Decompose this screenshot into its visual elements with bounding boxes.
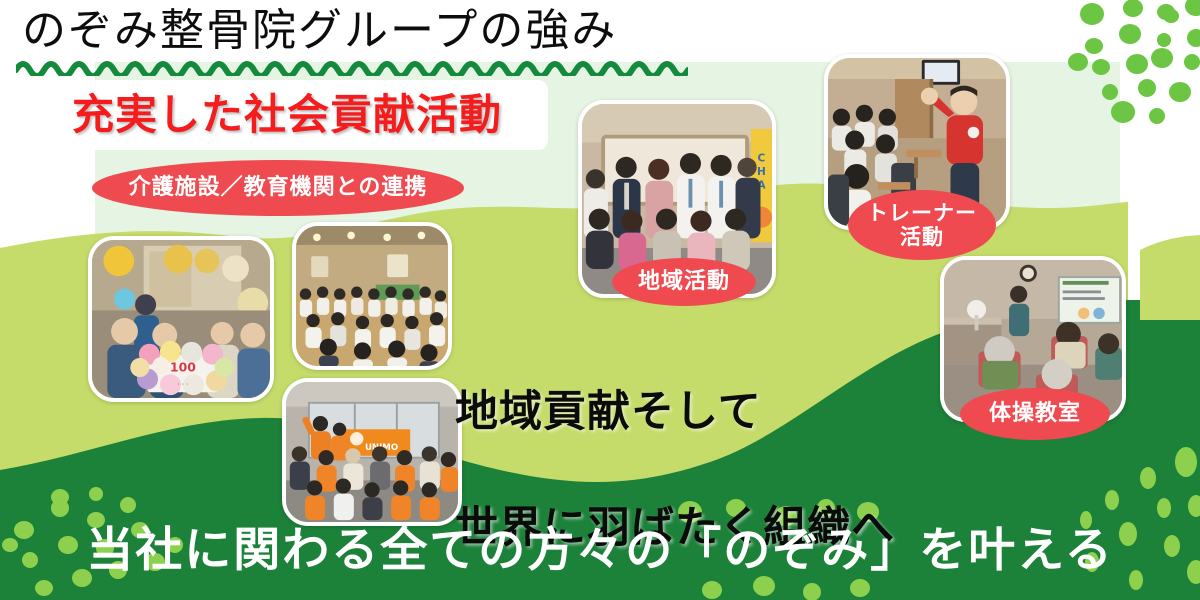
svg-text:C: C [758, 153, 766, 165]
headline-text: 充実した社会貢献活動 [72, 86, 542, 144]
page-title: のぞみ整骨院グループの強み [22, 8, 617, 54]
badge-gym-class: 体操教室 [960, 388, 1110, 440]
badge-local-activity: 地域活動 [612, 258, 756, 306]
svg-text:H: H [757, 166, 766, 178]
svg-text:. . .: . . . [178, 379, 189, 387]
dot-cluster-top-right [1068, 0, 1200, 124]
center-slogan-line1: 地域貢献そして [455, 383, 895, 441]
badge-trainer-line2: 活動 [900, 225, 944, 249]
svg-text:100: 100 [170, 359, 196, 374]
bottom-slogan: 当社に関わる全ての方々の「のぞみ」を叶える [0, 520, 1200, 582]
photo-school-assembly [292, 222, 452, 370]
badge-trainer-activity: トレーナー 活動 [848, 190, 996, 260]
promotional-banner: のぞみ整骨院グループの強み 充実した社会貢献活動 [0, 0, 1200, 600]
badge-trainer-line1: トレーナー [867, 201, 977, 225]
photo-orange-team: UNIMO [282, 378, 462, 526]
badge-partnership: 介護施設／教育機関との連携 [92, 160, 464, 216]
photo-centenarian-celebration: 100 . . . [88, 236, 274, 402]
title-underline-wave [16, 58, 688, 76]
